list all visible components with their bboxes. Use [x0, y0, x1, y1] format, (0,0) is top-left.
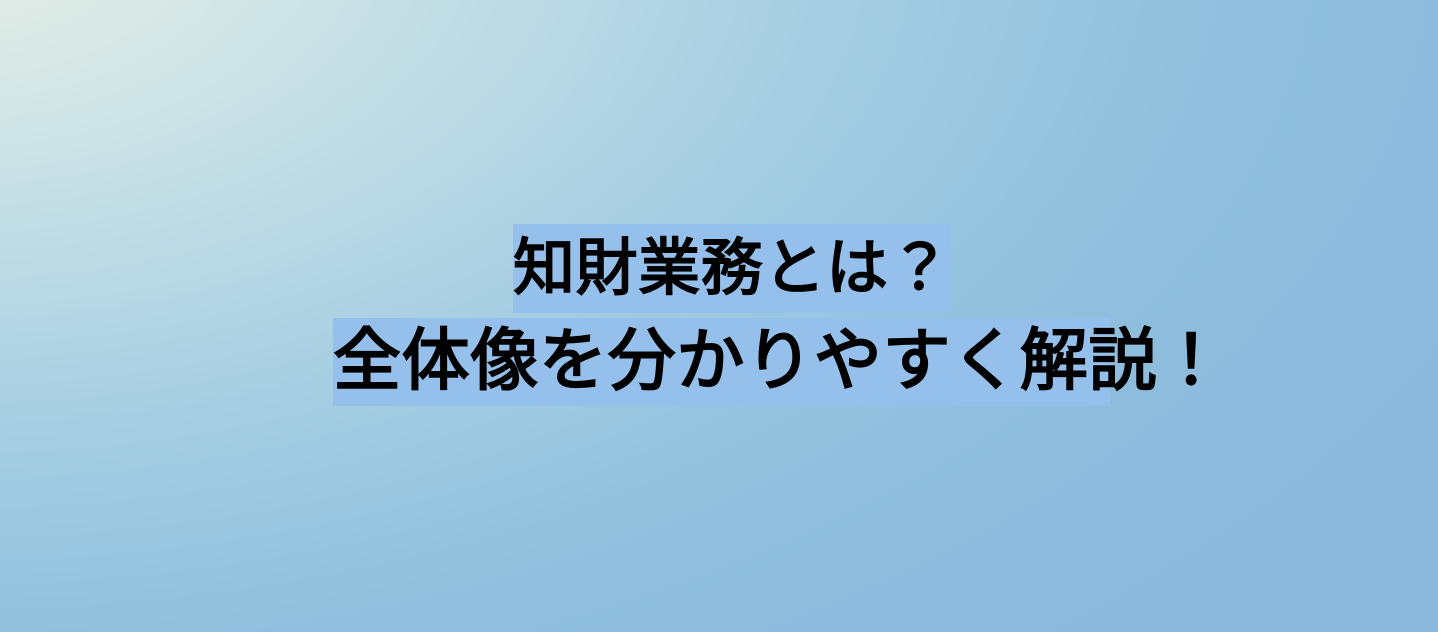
title-block: 知財業務とは？ 全体像を分かりやすく解説！ — [0, 0, 1438, 632]
slide-canvas: 知財業務とは？ 全体像を分かりやすく解説！ — [0, 0, 1438, 632]
title-line-2: 全体像を分かりやすく解説！ — [333, 318, 1110, 406]
title-line-1: 知財業務とは？ — [513, 224, 951, 313]
